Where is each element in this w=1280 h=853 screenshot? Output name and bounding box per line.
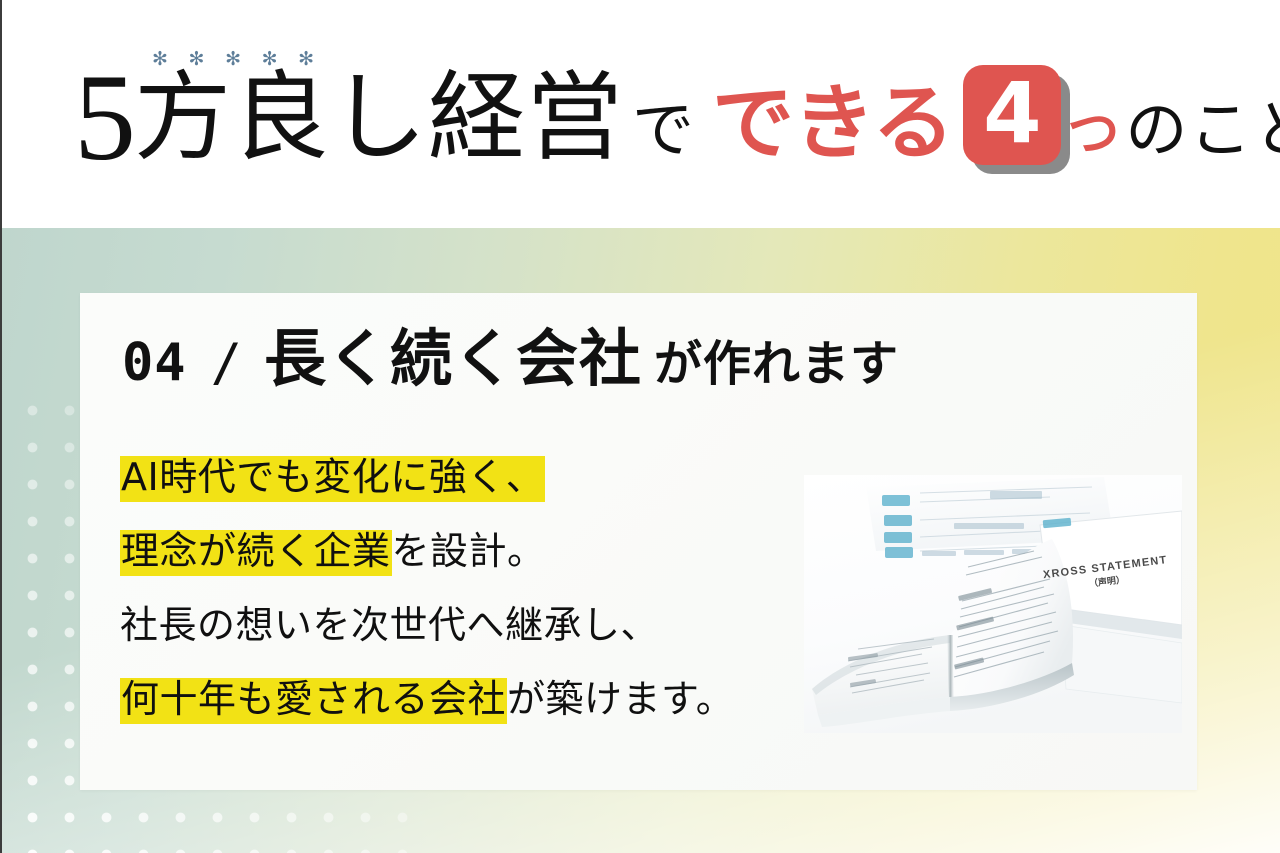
body-text-plain: 社長の想いを次世代へ継承し、 (120, 603, 659, 647)
content-card: 04 / 長く続く会社 が作れます AI時代でも変化に強く、理念が続く企業を設計… (80, 293, 1197, 790)
card-index-number: 04 (122, 337, 187, 389)
slide-root: ✻ ✻ ✻ ✻ ✻ 5 方良し経営 で できる 4 つ のこと 04 (0, 0, 1280, 853)
header-title-block: ✻ ✻ ✻ ✻ ✻ 5 方良し経営 で できる 4 つ のこと (74, 42, 1234, 192)
header-number-5: 5 (74, 56, 134, 180)
card-heading-main: 長く続く会社 (264, 328, 642, 390)
body-text-highlighted: AI時代でも変化に強く、 (120, 454, 545, 502)
body-text-plain: を設計。 (392, 529, 546, 573)
header-title-row: 5 方良し経営 で できる 4 つ のこと (74, 48, 1280, 188)
header-red-counter: つ (1067, 108, 1125, 160)
body-text-highlighted: 理念が続く企業 (120, 528, 392, 576)
header-red-word: できる (712, 83, 953, 165)
card-heading: 04 / 長く続く会社 が作れます (122, 328, 899, 390)
body-text-plain: が築けます。 (507, 677, 734, 721)
body-line: 何十年も愛される会社が築けます。 (120, 680, 780, 718)
badge-number-label: 4 (963, 65, 1061, 165)
slide-header: ✻ ✻ ✻ ✻ ✻ 5 方良し経営 で できる 4 つ のこと (2, 0, 1280, 228)
booklet-photo: XROSS STATEMENT （声明） (804, 475, 1182, 733)
booklet-photo-graphic (804, 475, 1182, 733)
slide-stage: 04 / 長く続く会社 が作れます AI時代でも変化に強く、理念が続く企業を設計… (2, 228, 1280, 853)
header-number-badge: 4 (963, 65, 1061, 165)
card-heading-separator: / (187, 337, 264, 389)
body-text-highlighted: 何十年も愛される会社 (120, 676, 507, 724)
header-phrase-main: 方良し経営 (134, 70, 624, 167)
card-heading-sub: が作れます (642, 340, 899, 388)
header-particle-de: で (624, 100, 712, 162)
header-tail-text: のこと (1125, 100, 1280, 162)
body-line: 社長の想いを次世代へ継承し、 (120, 606, 780, 644)
body-line: AI時代でも変化に強く、 (120, 458, 780, 496)
card-body-text: AI時代でも変化に強く、理念が続く企業を設計。社長の想いを次世代へ継承し、何十年… (120, 458, 780, 718)
body-line: 理念が続く企業を設計。 (120, 532, 780, 570)
